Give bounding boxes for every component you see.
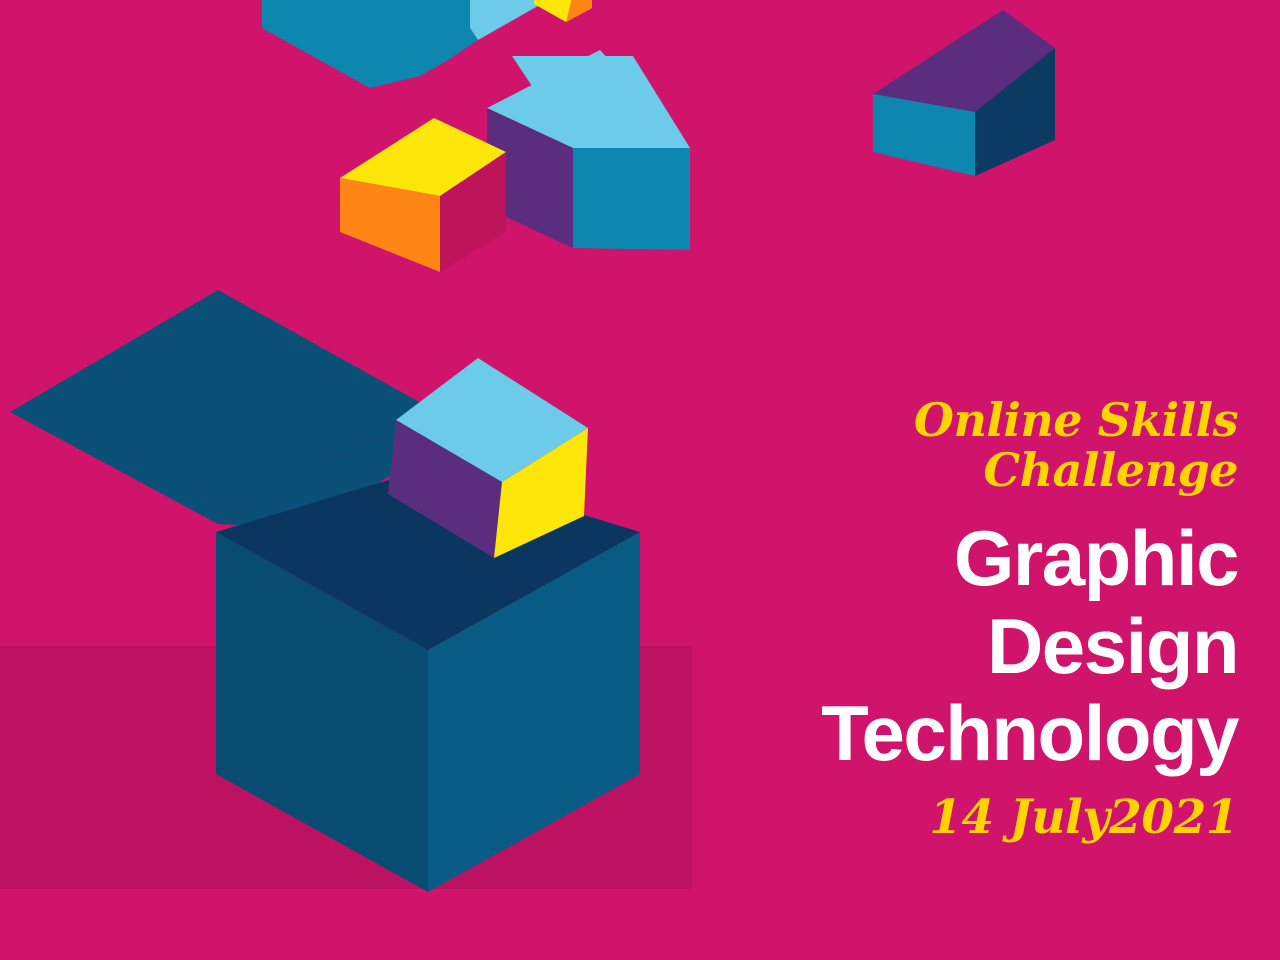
headline-line-2: Design [678,603,1238,690]
poster-text-block: Online Skills Challenge Graphic Design T… [678,396,1238,843]
headline-line-1: Graphic [678,515,1238,602]
event-date: 14 July2021 [678,793,1238,842]
eyebrow-subtitle: Online Skills Challenge [678,396,1238,495]
poster-canvas: Online Skills Challenge Graphic Design T… [0,0,1280,960]
cube-face-right [573,148,690,250]
headline-line-3: Technology [678,690,1238,777]
page-title: Graphic Design Technology [678,515,1238,777]
